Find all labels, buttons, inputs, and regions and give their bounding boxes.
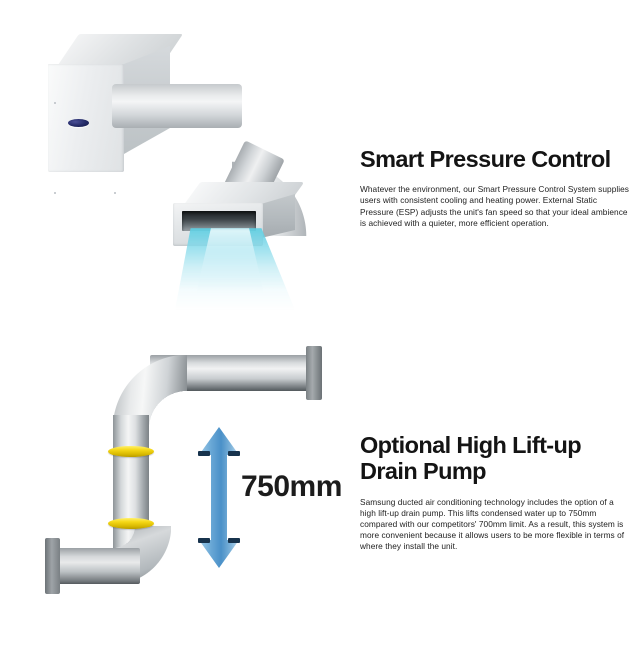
bottom-pipe-end-flange xyxy=(45,538,60,594)
smart-pressure-copy: Smart Pressure Control Whatever the envi… xyxy=(360,146,632,229)
section-drain-pump: 750mm Optional High Lift-upDrain Pump Sa… xyxy=(0,330,637,656)
measurement-label-750mm: 750mm xyxy=(241,470,342,504)
samsung-badge xyxy=(68,119,89,127)
body-drain-pump: Samsung ducted air conditioning technolo… xyxy=(360,497,632,552)
ducted-indoor-unit-illustration xyxy=(0,0,355,330)
yellow-band-upper xyxy=(108,446,154,457)
heading-smart-pressure-control: Smart Pressure Control xyxy=(360,146,632,172)
body-smart-pressure-control: Whatever the environment, our Smart Pres… xyxy=(360,184,632,228)
bottom-horizontal-pipe xyxy=(58,548,140,584)
product-feature-page: Smart Pressure Control Whatever the envi… xyxy=(0,0,637,656)
section-smart-pressure-control: Smart Pressure Control Whatever the envi… xyxy=(0,0,637,330)
heading-drain-pump: Optional High Lift-upDrain Pump xyxy=(360,432,632,485)
yellow-band-lower xyxy=(108,518,154,529)
drain-pump-copy: Optional High Lift-upDrain Pump Samsung … xyxy=(360,432,632,552)
round-duct-horizontal xyxy=(112,84,242,128)
screw-icon xyxy=(54,102,56,104)
screw-icon xyxy=(114,192,116,194)
double-arrow-icon xyxy=(196,425,242,570)
top-pipe-end-flange xyxy=(306,346,322,400)
heading-line-1: Optional High Lift-up xyxy=(360,432,581,458)
vertical-double-arrow xyxy=(196,425,242,570)
screw-icon xyxy=(54,192,56,194)
heading-line-2: Drain Pump xyxy=(360,458,486,484)
